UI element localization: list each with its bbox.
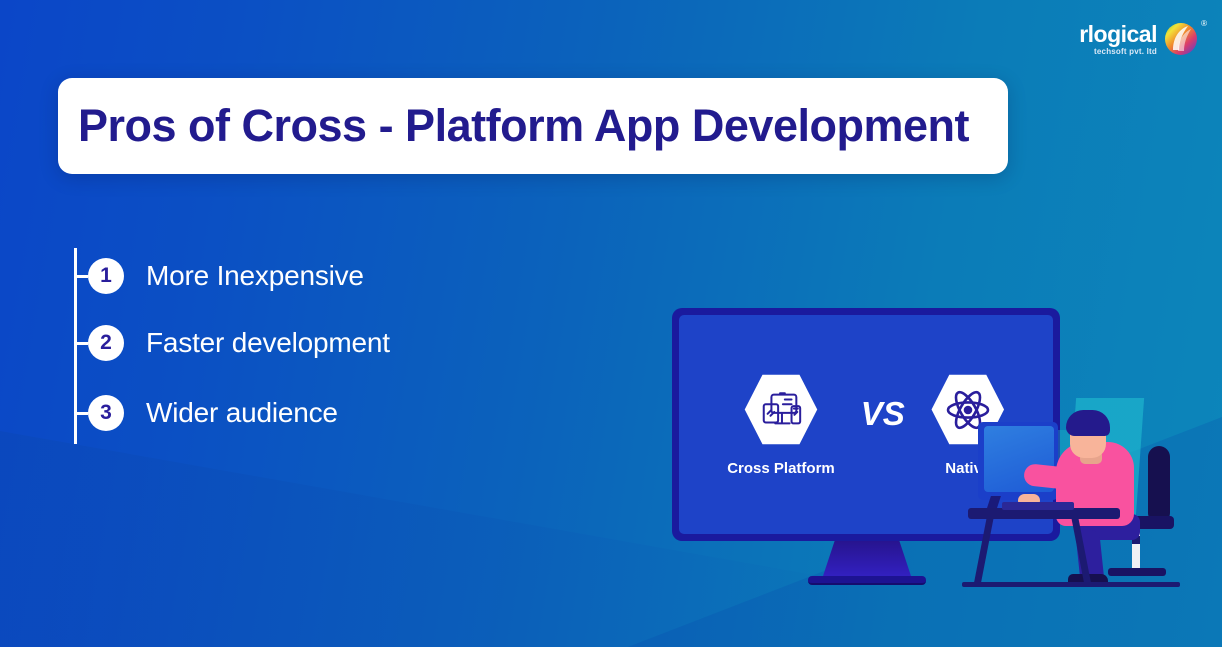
office-chair-base: [1108, 568, 1166, 576]
list-item-number-badge: 2: [88, 325, 124, 361]
cross-platform-badge: Cross Platform: [727, 373, 835, 477]
monitor-stand-base: [808, 576, 926, 585]
keyboard: [1002, 502, 1074, 510]
floor-line: [962, 582, 1180, 587]
brand-name: rlogical: [1079, 23, 1157, 46]
desk-leg-left: [973, 518, 993, 586]
office-chair-back: [1148, 446, 1170, 522]
rlogical-leaf-mark-icon: ®: [1162, 20, 1200, 58]
infographic-canvas: rlogical techsoft pvt. ltd: [0, 0, 1222, 647]
brand-logo: rlogical techsoft pvt. ltd: [1079, 20, 1200, 58]
brand-logo-text: rlogical techsoft pvt. ltd: [1079, 23, 1157, 56]
registered-trademark-icon: ®: [1201, 19, 1207, 28]
list-item: 3 Wider audience: [74, 395, 338, 431]
list-connector-tick: [74, 342, 88, 345]
list-item-label: Wider audience: [146, 397, 338, 429]
multi-device-icon: [744, 373, 818, 447]
cross-platform-label: Cross Platform: [727, 460, 835, 477]
list-item-label: Faster development: [146, 327, 390, 359]
list-item: 2 Faster development: [74, 325, 390, 361]
title-card: Pros of Cross - Platform App Development: [58, 78, 1008, 174]
list-item-label: More Inexpensive: [146, 260, 364, 292]
page-title: Pros of Cross - Platform App Development: [58, 100, 969, 152]
list-item: 1 More Inexpensive: [74, 258, 364, 294]
list-item-number-badge: 3: [88, 395, 124, 431]
monitor-stand: [822, 541, 912, 579]
list-connector-tick: [74, 275, 88, 278]
brand-tagline: techsoft pvt. ltd: [1079, 48, 1157, 56]
list-item-number-badge: 1: [88, 258, 124, 294]
versus-separator: VS: [861, 395, 905, 433]
person-hair: [1066, 410, 1110, 436]
list-connector-tick: [74, 412, 88, 415]
developer-at-desk-illustration: [960, 390, 1222, 600]
pros-list: 1 More Inexpensive 2 Faster development …: [74, 248, 544, 448]
